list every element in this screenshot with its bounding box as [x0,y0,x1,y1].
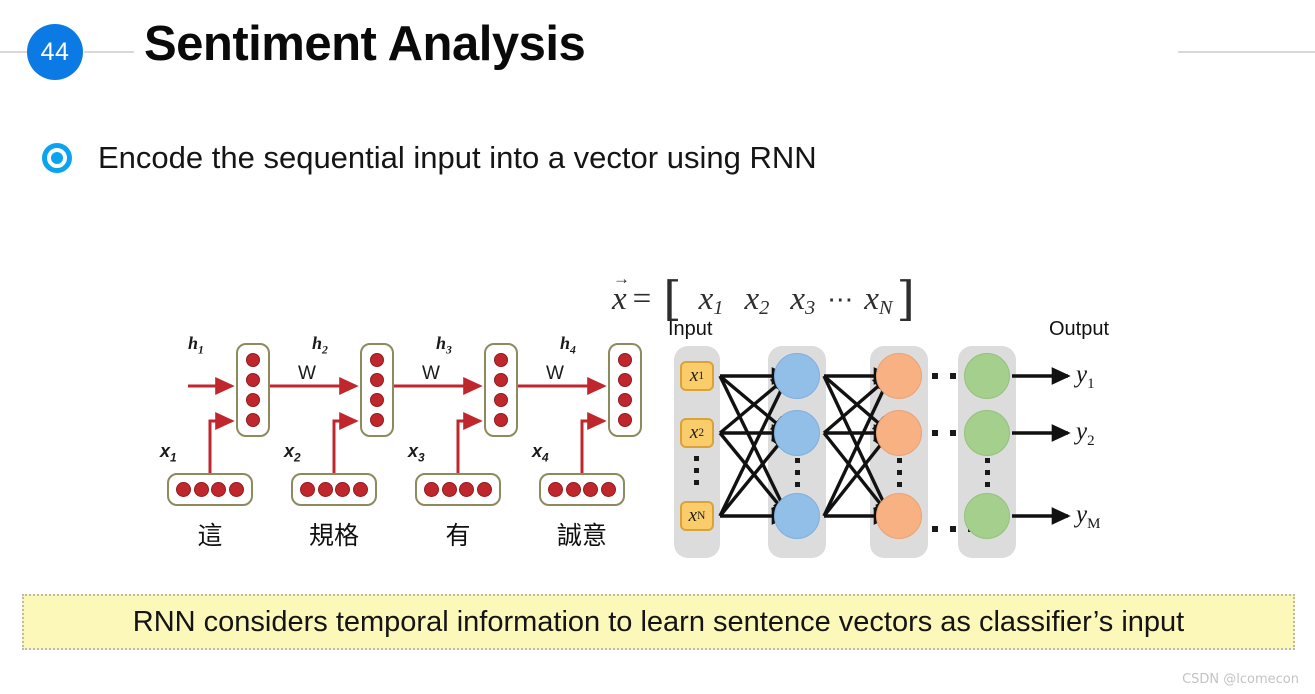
formula-equals: = [633,281,652,318]
input-layer-vertical-ellipsis [694,456,699,485]
rnn-connections [150,333,660,558]
input-node-xn: xN [680,501,714,531]
output-vertical-ellipsis [985,458,990,487]
slide-number-badge: 44 [27,24,83,80]
hidden-node [370,373,384,387]
header-rule-right [1178,51,1315,53]
formula-element-3: x3 [790,281,815,318]
bullet-text: Encode the sequential input into a vecto… [98,140,817,176]
hidden-node [618,393,632,407]
hidden2-vertical-ellipsis [897,458,902,487]
hidden1-vertical-ellipsis [795,458,800,487]
watermark: CSDN @lcomecon [1182,672,1299,687]
formula-element-2: x2 [745,281,770,318]
hidden-state-box-3 [484,343,518,437]
hidden-node [246,393,260,407]
slide-header: 44 Sentiment Analysis [0,0,1315,105]
hidden1-node-3 [774,493,820,539]
hidden-node [246,413,260,427]
output-label-y1: y1 [1076,361,1095,393]
header-rule-middle [84,51,134,53]
hidden-state-box-4 [608,343,642,437]
hidden-state-box-2 [360,343,394,437]
output-node-2 [964,410,1010,456]
formula-x-vector: →x [612,281,627,318]
hidden1-node-2 [774,410,820,456]
formula-ellipsis: ⋯ [827,285,856,315]
hidden-node [246,373,260,387]
hidden2-node-2 [876,410,922,456]
bullet-row: Encode the sequential input into a vecto… [42,140,817,176]
summary-banner: RNN considers temporal information to le… [22,594,1295,650]
output-node-3 [964,493,1010,539]
input-node-x1: x1 [680,361,714,391]
hidden-node [494,393,508,407]
classifier-network-diagram: Input Output [664,318,1134,563]
output-label-y2: y2 [1076,418,1095,450]
input-node-x2: x2 [680,418,714,448]
hidden2-node-1 [876,353,922,399]
ring-bullet-icon [42,143,72,173]
rnn-diagram: h1 x1 這 W h2 x2 [150,333,660,558]
hidden-node [494,353,508,367]
hidden-node [246,353,260,367]
hidden1-node-1 [774,353,820,399]
hidden-node [618,373,632,387]
hidden-node [494,413,508,427]
header-rule-left [0,51,30,53]
vector-arrow-icon: → [613,269,630,289]
hidden-node [618,413,632,427]
hidden-state-box-1 [236,343,270,437]
formula-element-n: xN [864,281,892,318]
hidden-node [370,393,384,407]
summary-banner-text: RNN considers temporal information to le… [133,606,1184,639]
hidden-node [370,353,384,367]
page-title: Sentiment Analysis [144,16,585,72]
hidden2-node-3 [876,493,922,539]
hidden-node [618,353,632,367]
output-node-1 [964,353,1010,399]
hidden-node [370,413,384,427]
output-label-ym: yM [1076,501,1100,533]
hidden-node [494,373,508,387]
formula-element-1: x1 [699,281,724,318]
